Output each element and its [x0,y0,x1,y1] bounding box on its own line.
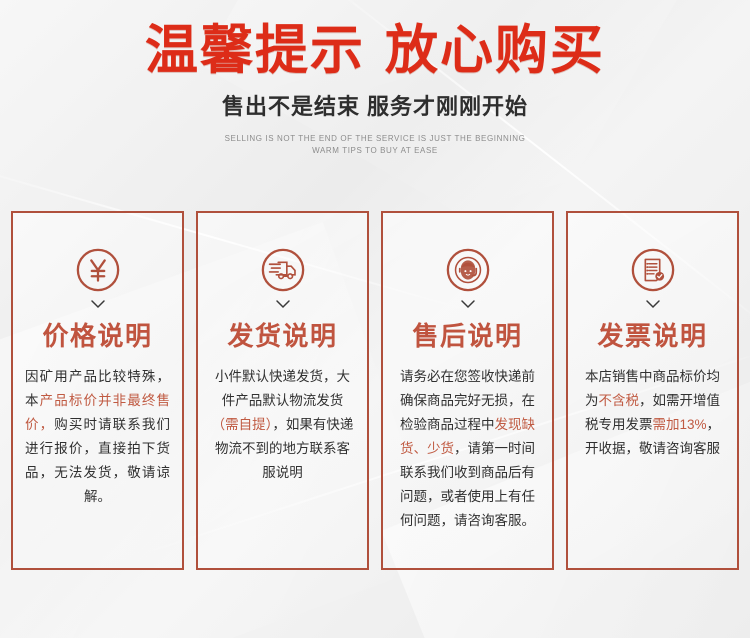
customer-service-circle-icon [445,247,491,293]
info-card-after-sales[interactable]: 售后说明 请务必在您签收快递前确保商品完好无损，在检验商品过程中发现缺货、少货，… [381,211,554,570]
info-card-invoice[interactable]: 发票说明 本店销售中商品标价均为不含税，如需开增值税专用发票需加13%，开收据，… [566,211,739,570]
chevron-down-icon [460,299,476,309]
page-title-left: 温馨提示 [145,21,365,80]
page-subtitle: 售出不是结束 服务才刚刚开始 [0,89,750,121]
english-tagline-line-2: WARM TIPS TO BUY AT EASE [0,145,750,157]
card-body: 小件默认快递发货，大件产品默认物流发货（需自提），如果有快递物流不到的地方联系客… [206,365,359,485]
card-title: 发货说明 [206,323,359,349]
icon-container [576,245,729,295]
chevron-down-icon [645,299,661,309]
info-card-delivery[interactable]: 发货说明 小件默认快递发货，大件产品默认物流发货（需自提），如果有快递物流不到的… [196,211,369,570]
card-body-segment: 小件默认快递发货，大件产品默认物流发货 [215,369,350,408]
page-title: 温馨提示放心购买 [0,24,750,77]
english-tagline-line-1: SELLING IS NOT THE END OF THE SERVICE IS… [0,133,750,145]
card-title: 价格说明 [21,323,174,349]
card-body: 本店销售中商品标价均为不含税，如需开增值税专用发票需加13%，开收据，敬请咨询客… [576,365,729,461]
info-card-list: 价格说明 因矿用产品比较特殊，本产品标价并非最终售价，购买时请联系我们进行报价，… [11,211,739,570]
card-title: 发票说明 [576,323,729,349]
invoice-check-circle-icon [630,247,676,293]
card-title: 售后说明 [391,323,544,349]
banner-header: 温馨提示放心购买 售出不是结束 服务才刚刚开始 SELLING IS NOT T… [0,0,750,158]
icon-container [206,245,359,295]
icon-container [21,245,174,295]
yen-circle-icon [75,247,121,293]
card-body: 请务必在您签收快递前确保商品完好无损，在检验商品过程中发现缺货、少货，请第一时间… [391,365,544,533]
icon-container [391,245,544,295]
info-card-price[interactable]: 价格说明 因矿用产品比较特殊，本产品标价并非最终售价，购买时请联系我们进行报价，… [11,211,184,570]
card-body-highlight: 需加13% [652,417,706,432]
delivery-truck-circle-icon [260,247,306,293]
card-body-highlight: （需自提） [212,417,273,432]
chevron-down-icon [275,299,291,309]
page-title-right: 放心购买 [385,21,605,80]
card-body-highlight: 不含税 [599,393,640,408]
card-body: 因矿用产品比较特殊，本产品标价并非最终售价，购买时请联系我们进行报价，直接拍下货… [21,365,174,509]
promo-banner: 温馨提示放心购买 售出不是结束 服务才刚刚开始 SELLING IS NOT T… [0,0,750,638]
chevron-down-icon [90,299,106,309]
english-tagline: SELLING IS NOT THE END OF THE SERVICE IS… [0,133,750,158]
